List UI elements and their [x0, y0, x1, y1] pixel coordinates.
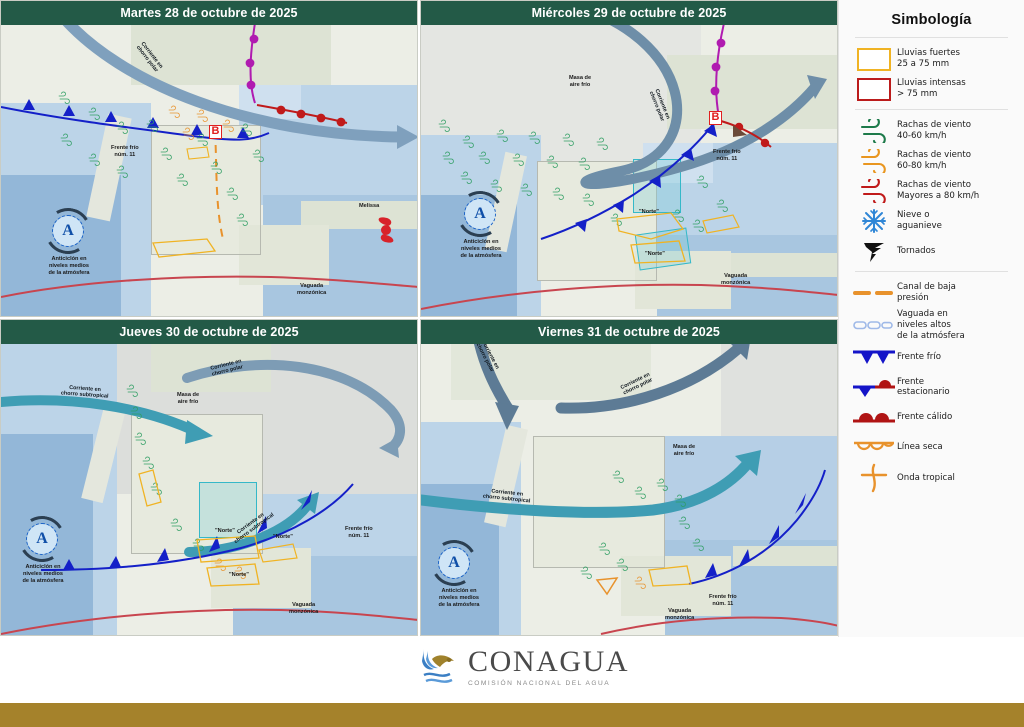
logo-title: CONAGUA	[468, 647, 629, 677]
map-panel-thursday[interactable]: Jueves 30 de octubre de 2025 Masa de air…	[0, 319, 418, 636]
legend-item-label: Nieve o aguanieve	[897, 210, 942, 232]
conagua-emblem-icon	[418, 645, 460, 689]
legend-item-label: Línea seca	[897, 442, 943, 453]
legend-item-wind-green[interactable]: Rachas de viento 40-60 km/h	[839, 116, 1024, 146]
tornado-icon	[851, 238, 897, 264]
norte-label-mid: "Norte"	[273, 534, 293, 541]
wind-gust-glyph	[859, 149, 889, 173]
legend-item-rain-intense[interactable]: Lluvias intensas > 75 mm	[839, 74, 1024, 104]
anticyclone-symbol: A	[45, 208, 91, 254]
stationary-front-glyph	[851, 377, 897, 397]
map-canvas: Masa de aire frío Corriente en chorro po…	[1, 344, 417, 636]
legend-item-label: Frente cálido	[897, 412, 952, 423]
rain-intense-box-icon	[851, 78, 897, 101]
anticyclone-label: Anticiclón en niveles medios de la atmós…	[421, 588, 501, 608]
rain-intense-swatch	[857, 78, 891, 101]
map-panel-tuesday[interactable]: Martes 28 de octubre de 2025	[0, 0, 418, 317]
legend-item-rain-heavy[interactable]: Lluvias fuertes 25 a 75 mm	[839, 44, 1024, 74]
monsoon-trough-label: Vaguada monzónica	[721, 273, 750, 287]
legend-item-label: Vaguada en niveles altos de la atmósfera	[897, 309, 965, 341]
anticyclone-label: Anticiclón en niveles medios de la atmós…	[1, 564, 85, 584]
hurricane-label: Melissa	[359, 203, 379, 210]
dashed-line-glyph	[853, 287, 895, 299]
tornado-glyph	[861, 238, 887, 264]
anticyclone-badge: A	[457, 191, 503, 237]
cold-air-mass-label: Masa de aire frío	[177, 392, 199, 406]
panel-title: Viernes 31 de octubre de 2025	[421, 320, 837, 344]
legend-item-label: Frente frío	[897, 352, 941, 363]
cold-front-label: Frente frío núm. 11	[709, 594, 737, 608]
panel-title: Martes 28 de octubre de 2025	[1, 1, 417, 25]
legend-divider-rain	[855, 109, 1008, 110]
footer: CONAGUA COMISIÓN NACIONAL DEL AGUA	[0, 637, 1024, 701]
rain-heavy-polygon	[421, 25, 837, 317]
legend-divider-systems	[855, 271, 1008, 272]
anticyclone-badge: A	[19, 516, 65, 562]
weather-forecast-infographic: Martes 28 de octubre de 2025	[0, 0, 1024, 727]
anticyclone-badge: A	[431, 540, 477, 586]
snowflake-glyph	[861, 208, 887, 234]
anticyclone-symbol: A	[431, 540, 477, 586]
legend-item-cold-front[interactable]: Frente frío	[839, 342, 1024, 372]
legend-item-label: Rachas de viento 40-60 km/h	[897, 120, 971, 142]
legend-item-tropical-wave[interactable]: Onda tropical	[839, 462, 1024, 494]
panel-title: Miércoles 29 de octubre de 2025	[421, 1, 837, 25]
eagle-water-glyph	[418, 645, 460, 689]
cold-air-mass-label: Masa de aire frío	[673, 444, 695, 458]
logo-text-block: CONAGUA COMISIÓN NACIONAL DEL AGUA	[468, 647, 629, 687]
map-panels-grid: Martes 28 de octubre de 2025	[0, 0, 838, 637]
map-canvas: Masa de aire frío Corriente en chorro po…	[421, 25, 837, 317]
logo-subtitle: COMISIÓN NACIONAL DEL AGUA	[468, 680, 629, 687]
norte-label-north: "Norte"	[639, 209, 659, 216]
legend-item-snow[interactable]: Nieve o aguanieve	[839, 206, 1024, 236]
dry-line-glyph	[851, 439, 897, 455]
wind-gust-glyph	[859, 179, 889, 203]
wind-gust-orange-icon	[851, 149, 897, 173]
legend-item-warm-front[interactable]: Frente cálido	[839, 402, 1024, 432]
wind-gust-green-icon	[851, 119, 897, 143]
norte-label-south: "Norte"	[229, 572, 249, 579]
legend-item-label: Onda tropical	[897, 473, 955, 484]
low-pressure-channel-icon	[851, 287, 897, 299]
legend-item-upper-trough[interactable]: Vaguada en niveles altos de la atmósfera	[839, 308, 1024, 342]
snowflake-icon	[851, 208, 897, 234]
cold-air-mass-label: Masa de aire frío	[569, 75, 591, 89]
legend-item-label: Rachas de viento 60-80 km/h	[897, 150, 971, 172]
wind-gust-glyph	[859, 119, 889, 143]
cold-front-label: Frente frío núm. 11	[345, 526, 373, 540]
rain-heavy-swatch	[857, 48, 891, 71]
monsoon-trough-label: Vaguada monzónica	[289, 602, 318, 616]
map-canvas: Corriente en chorro polar Frente frío nú…	[1, 25, 417, 317]
legend-item-low-pressure-channel[interactable]: Canal de baja presión	[839, 278, 1024, 308]
rain-heavy-box-icon	[851, 48, 897, 71]
cold-front-glyph	[851, 348, 897, 366]
monsoon-trough-label: Vaguada monzónica	[297, 283, 326, 297]
legend-item-tornado[interactable]: Tornados	[839, 236, 1024, 266]
legend-item-stationary-front[interactable]: Frente estacionario	[839, 372, 1024, 402]
map-panel-wednesday[interactable]: Miércoles 29 de octubre de 2025 Masa de …	[420, 0, 838, 317]
legend-item-dry-line[interactable]: Línea seca	[839, 432, 1024, 462]
cold-front-label: Frente frío núm. 11	[713, 149, 741, 163]
dry-line-icon	[851, 439, 897, 455]
wind-gust-red-icon	[851, 179, 897, 203]
legend-item-label: Lluvias intensas > 75 mm	[897, 78, 966, 100]
low-pressure-marker: B	[209, 125, 222, 139]
legend-item-label: Frente estacionario	[897, 377, 950, 399]
anticyclone-label: Anticiclón en niveles medios de la atmós…	[437, 239, 525, 259]
norte-label-south: "Norte"	[645, 251, 665, 258]
legend-item-label: Rachas de viento Mayores a 80 km/h	[897, 180, 979, 202]
conagua-logo: CONAGUA COMISIÓN NACIONAL DEL AGUA	[418, 645, 629, 689]
stationary-front-icon	[851, 377, 897, 397]
tropical-wave-glyph	[857, 463, 891, 493]
legend-panel: Simbología Lluvias fuertes 25 a 75 mm Ll…	[838, 0, 1024, 637]
cold-front-icon	[851, 348, 897, 366]
anticyclone-symbol: A	[19, 516, 65, 562]
legend-item-label: Tornados	[897, 246, 935, 257]
footer-gold-bar	[0, 703, 1024, 727]
legend-item-wind-orange[interactable]: Rachas de viento 60-80 km/h	[839, 146, 1024, 176]
anticyclone-label: Anticiclón en niveles medios de la atmós…	[25, 256, 113, 276]
trough-chain-glyph	[852, 318, 896, 332]
legend-item-wind-red[interactable]: Rachas de viento Mayores a 80 km/h	[839, 176, 1024, 206]
legend-divider-top	[855, 37, 1008, 38]
legend-item-label: Lluvias fuertes 25 a 75 mm	[897, 48, 960, 70]
warm-front-icon	[851, 409, 897, 425]
legend-item-label: Canal de baja presión	[897, 282, 956, 304]
warm-front-glyph	[851, 409, 897, 425]
monsoon-trough-label: Vaguada monzónica	[665, 608, 694, 622]
legend-title: Simbología	[839, 12, 1024, 28]
anticyclone-symbol: A	[457, 191, 503, 237]
map-canvas: Corriente en chorro polar Corriente en c…	[421, 344, 837, 636]
norte-label-west: "Norte"	[215, 528, 235, 535]
map-panel-friday[interactable]: Viernes 31 de octubre de 2025	[420, 319, 838, 636]
panel-title: Jueves 30 de octubre de 2025	[1, 320, 417, 344]
anticyclone-badge: A	[45, 208, 91, 254]
cold-front-label: Frente frío núm. 11	[111, 145, 139, 159]
low-pressure-marker: B	[709, 111, 722, 125]
upper-level-trough-icon	[851, 318, 897, 332]
tropical-wave-icon	[851, 463, 897, 493]
